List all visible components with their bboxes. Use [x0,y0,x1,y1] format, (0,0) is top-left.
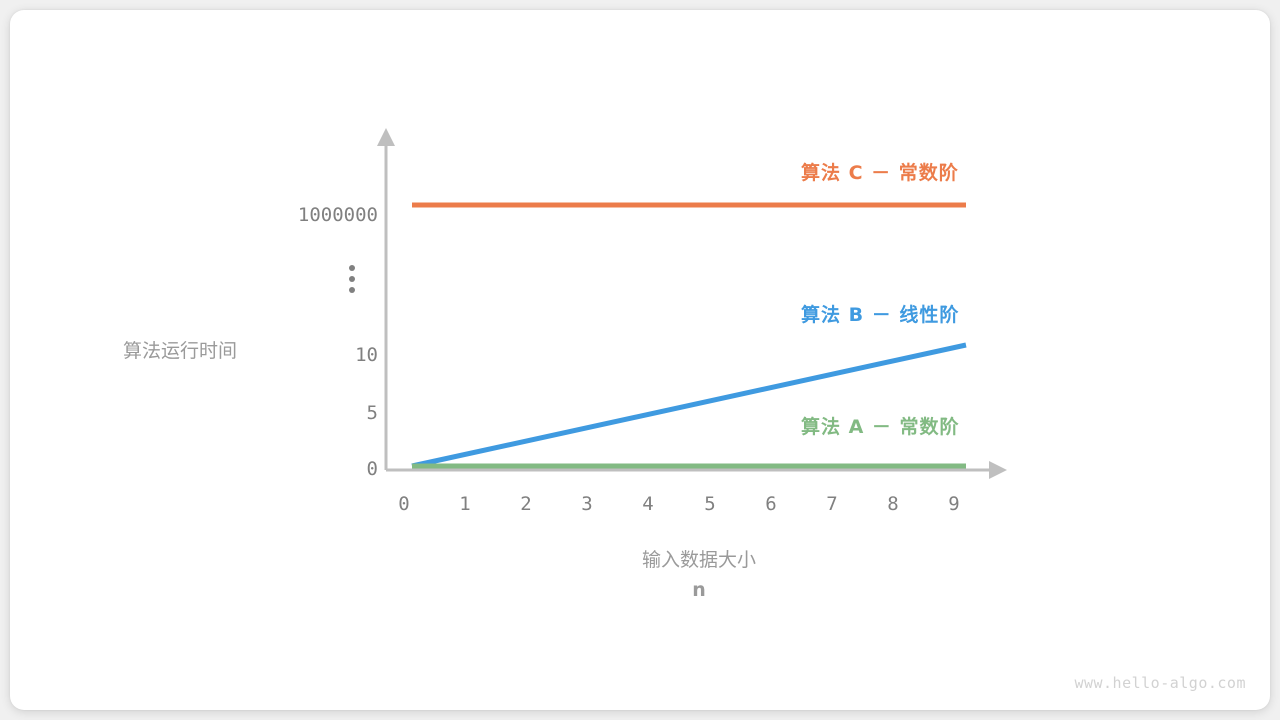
x-tick-6: 6 [751,493,791,515]
series-line-b [412,345,966,466]
y-tick-1000000: 1000000 [188,204,378,226]
x-axis-title: 输入数据大小 [589,545,809,572]
watermark: www.hello-algo.com [1074,674,1246,692]
x-tick-7: 7 [812,493,852,515]
series-label-c: 算法 C － 常数阶 [801,158,959,185]
x-tick-8: 8 [873,493,913,515]
y-tick-0: 0 [188,458,378,480]
x-tick-9: 9 [934,493,974,515]
y-axis-title: 算法运行时间 [75,336,285,363]
y-tick-5: 5 [188,402,378,424]
x-tick-1: 1 [445,493,485,515]
y-axis-break-ellipsis-icon [349,265,355,293]
series-label-b: 算法 B － 线性阶 [801,300,959,327]
series-label-a: 算法 A － 常数阶 [801,412,960,439]
x-tick-5: 5 [690,493,730,515]
x-tick-4: 4 [628,493,668,515]
x-tick-2: 2 [506,493,546,515]
x-tick-3: 3 [567,493,607,515]
chart-card: 1000000 10 5 0 算法运行时间 0 1 2 3 4 5 6 7 8 … [10,10,1270,710]
x-tick-0: 0 [384,493,424,515]
x-axis-symbol: n [589,579,809,601]
